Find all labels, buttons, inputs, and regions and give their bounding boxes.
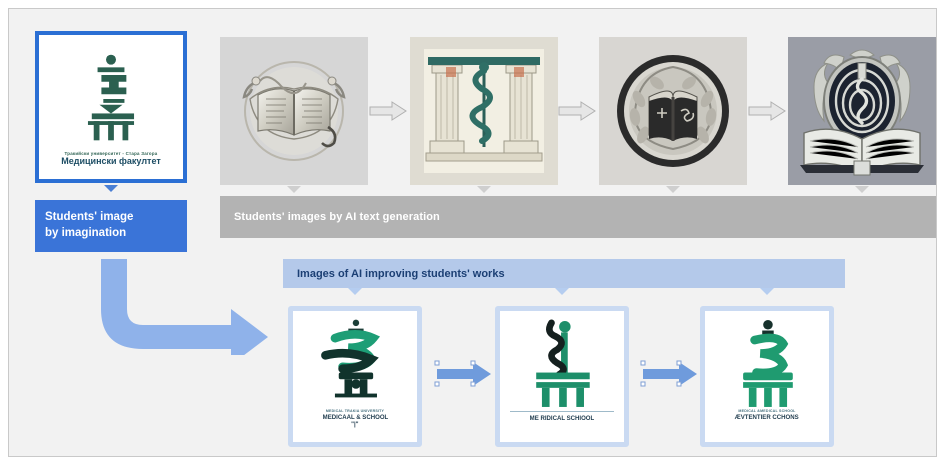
student-image-2-caption: ME RIDICAL SCHIOOL [530, 415, 595, 422]
student-image-2-art [519, 317, 605, 409]
connector-triangle-student-1 [348, 288, 362, 295]
arrow-ai-3-to-4 [748, 101, 786, 121]
arrow-ai-1-to-2 [369, 101, 407, 121]
connector-triangle-student-2 [555, 288, 569, 295]
trakia-medical-faculty-logo-icon [63, 52, 159, 148]
diagram-canvas: Тракийски университет - Стара Загора Мед… [8, 8, 937, 457]
student-image-1-caption-extra: "|" [351, 421, 358, 428]
connector-triangle-logo [104, 185, 118, 192]
student-image-3-art [724, 317, 810, 409]
arrow-student-2-to-3[interactable] [639, 359, 701, 389]
connector-triangle-ai-2 [477, 186, 491, 193]
label-ai-improving-text: Images of AI improving students' works [297, 268, 505, 280]
label-students-imagination[interactable]: Students' image by imagination [35, 200, 187, 252]
student-image-1-caption: MEDICAAL & SCHOOL [322, 414, 388, 421]
ai-image-3[interactable] [599, 37, 747, 185]
ai-image-2-art [410, 37, 558, 185]
connector-triangle-ai-3 [666, 186, 680, 193]
student-image-2-rule [510, 411, 614, 412]
student-image-1-caption-small: MEDICAL TRAKIA UNIVERSITY [326, 409, 384, 413]
ai-image-4-art [788, 37, 936, 185]
elbow-arrow-imagination-to-students [97, 257, 272, 355]
ai-image-4[interactable] [788, 37, 936, 185]
connector-triangle-student-3 [760, 288, 774, 295]
arrow-ai-2-to-3 [558, 101, 596, 121]
label-ai-improving[interactable]: Images of AI improving students' works [283, 259, 845, 288]
label-students-imagination-text: Students' image by imagination [45, 210, 133, 241]
label-ai-text-generation[interactable]: Students' images by AI text generation [220, 196, 937, 238]
student-image-3-caption: ÆVTENTIER CCHONS [735, 414, 799, 421]
connector-triangle-ai-4 [855, 186, 869, 193]
student-image-1-art [312, 317, 398, 409]
student-image-3-caption-small: MEDICAL &MEDICAL SCHOOL [738, 409, 795, 413]
ai-image-1[interactable] [220, 37, 368, 185]
connector-triangle-ai-1 [287, 186, 301, 193]
logo-title: Медицински факултет [61, 157, 160, 166]
ai-image-1-art [220, 37, 368, 185]
ai-image-3-art [599, 37, 747, 185]
diagram-page: Тракийски университет - Стара Загора Мед… [0, 0, 945, 465]
source-logo-card[interactable]: Тракийски университет - Стара Загора Мед… [35, 31, 187, 183]
student-image-3[interactable]: MEDICAL &MEDICAL SCHOOL ÆVTENTIER CCHONS [700, 306, 834, 447]
student-image-2[interactable]: ME RIDICAL SCHIOOL [495, 306, 629, 447]
student-image-1[interactable]: MEDICAL TRAKIA UNIVERSITY MEDICAAL & SCH… [288, 306, 422, 447]
arrow-student-1-to-2[interactable] [433, 359, 495, 389]
ai-image-2[interactable] [410, 37, 558, 185]
label-ai-text-generation-text: Students' images by AI text generation [234, 211, 440, 223]
